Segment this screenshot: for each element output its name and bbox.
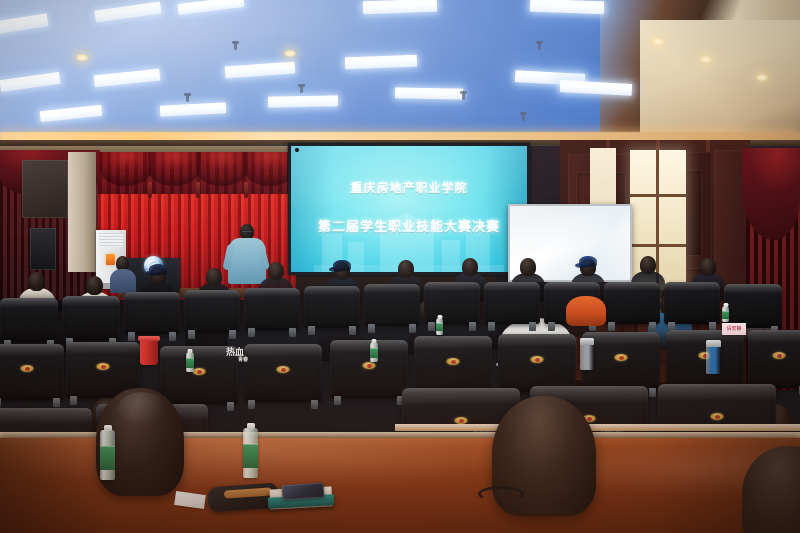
- slide-title: 重庆房地产职业学院: [291, 179, 527, 196]
- conference-hall-photo: 重庆房地产职业学院 第二届学生职业技能大赛决赛 AusenseAusenseAu…: [0, 0, 800, 533]
- tshirt-print-text: 青春: [238, 356, 248, 363]
- slide-subtitle: 第二届学生职业技能大赛决赛: [291, 216, 527, 235]
- tshirt-prints: 热血青春: [0, 0, 800, 533]
